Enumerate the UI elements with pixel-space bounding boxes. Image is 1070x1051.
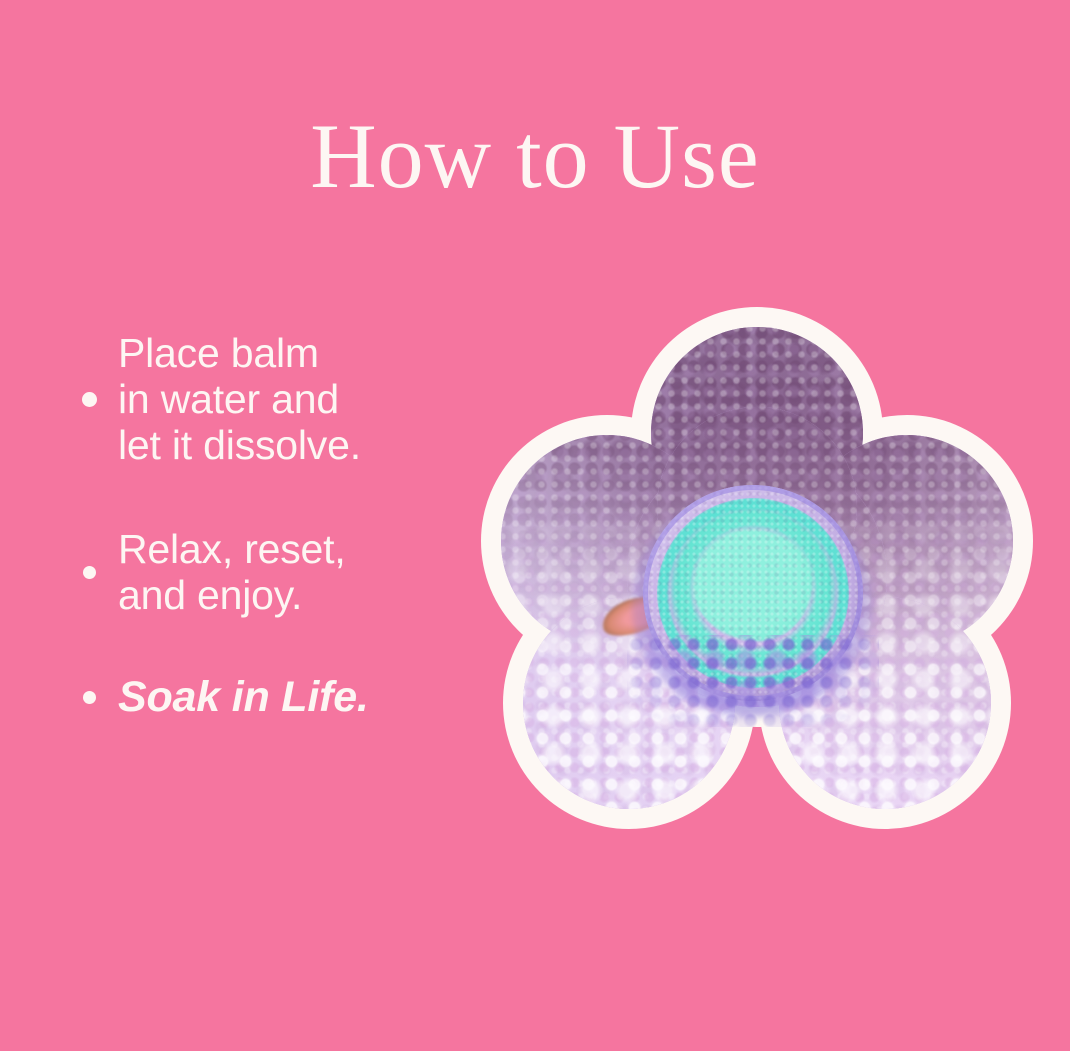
list-item: Relax, reset, and enjoy.: [60, 526, 480, 618]
flower-photo-fill: [481, 307, 1033, 848]
bullet-dot-icon: [60, 566, 118, 579]
list-item-line: Place balm: [118, 330, 361, 376]
list-item-text: Relax, reset, and enjoy.: [118, 526, 346, 618]
list-item-line: and enjoy.: [118, 572, 346, 618]
list-item-line: in water and: [118, 376, 361, 422]
bath-bomb: [643, 485, 863, 701]
product-photo-flower: [481, 307, 1033, 848]
list-item-text: Place balm in water and let it dissolve.: [118, 330, 361, 468]
bullet-dot-icon: [60, 392, 118, 407]
page-title: How to Use: [0, 108, 1070, 205]
list-item-line: let it dissolve.: [118, 422, 361, 468]
how-to-use-poster: How to Use Place balm in water and let i…: [0, 0, 1070, 1051]
list-item: Place balm in water and let it dissolve.: [60, 330, 480, 468]
list-item-text: Soak in Life.: [118, 674, 369, 720]
list-item: Soak in Life.: [60, 674, 480, 720]
bullet-dot-icon: [60, 691, 118, 704]
bath-bomb-fizz-bubbles: [627, 635, 879, 727]
list-item-line: Relax, reset,: [118, 526, 346, 572]
instructions-list: Place balm in water and let it dissolve.…: [60, 330, 480, 764]
list-item-line: Soak in Life.: [118, 674, 369, 720]
